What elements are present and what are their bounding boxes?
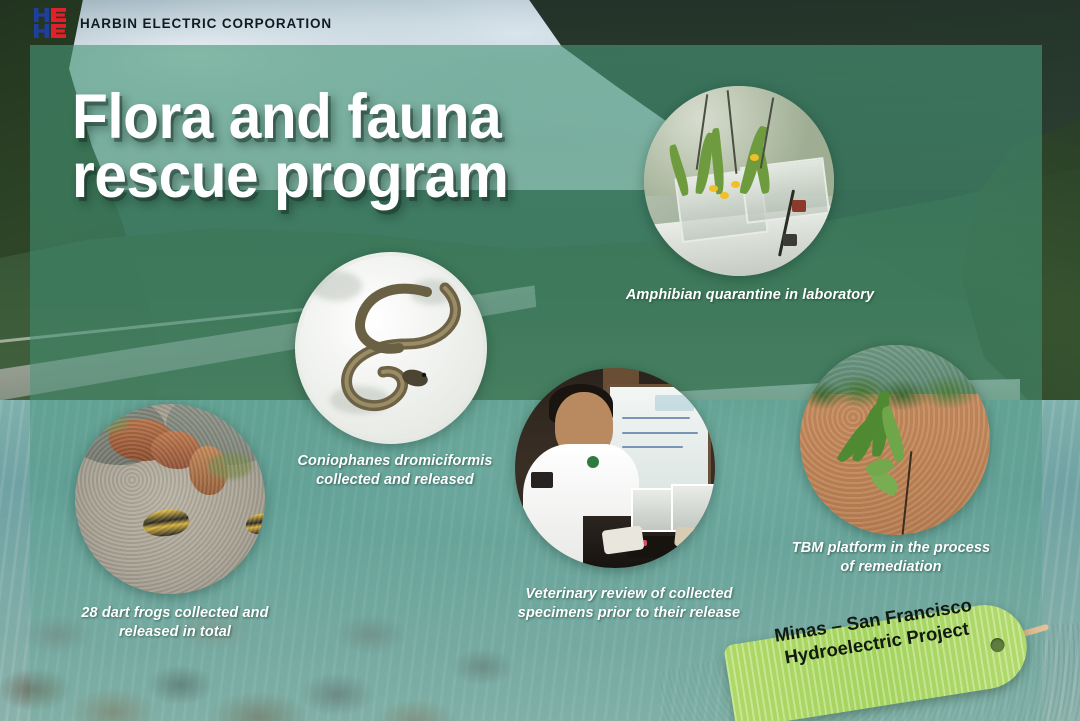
vet-logo-patch — [587, 456, 599, 468]
whiteboard-chart — [655, 395, 694, 411]
poster-slide: HARBIN ELECTRIC CORPORATION Flora and fa… — [0, 0, 1080, 721]
caption-dart-frog: 28 dart frogs collected and released in … — [52, 604, 298, 642]
lab-flower — [720, 192, 729, 199]
lab-flower — [709, 185, 718, 192]
caption-tbm-line-1: TBM platform in the process — [768, 539, 1014, 558]
lab-socket — [792, 200, 806, 212]
logo-block-top-left — [34, 8, 49, 22]
caption-frog-line-1: 28 dart frogs collected and — [52, 604, 298, 623]
whiteboard-text — [622, 432, 698, 434]
caption-snake-line-2: collected and released — [282, 471, 508, 490]
caption-tbm-line-2: of remediation — [768, 558, 1014, 577]
snake-body-icon — [295, 252, 487, 444]
caption-frog-line-2: released in total — [52, 623, 298, 642]
page-title-line-1: Flora and fauna — [72, 88, 508, 147]
whiteboard-text — [622, 417, 691, 419]
caption-vet-line-1: Veterinary review of collected — [496, 585, 762, 604]
vet-badge — [531, 472, 553, 488]
project-tag: Minas – San Francisco Hydroelectric Proj… — [718, 608, 1048, 718]
caption-amphibian-lab: Amphibian quarantine in laboratory — [600, 286, 900, 305]
photo-dart-frog — [75, 404, 265, 594]
photo-snake — [295, 252, 487, 444]
caption-snake: Coniophanes dromiciformis collected and … — [282, 452, 508, 490]
lab-leaf — [666, 144, 692, 197]
lab-flower — [731, 181, 740, 188]
caption-seedling: TBM platform in the process of remediati… — [768, 539, 1014, 577]
whiteboard-text — [622, 446, 683, 448]
header-bar: HARBIN ELECTRIC CORPORATION — [0, 0, 1080, 46]
logo-block-bottom-right — [51, 24, 66, 38]
lab-stem — [727, 90, 738, 173]
lab-plants — [644, 86, 834, 276]
page-title-line-2: rescue program — [72, 147, 508, 206]
vet-paper-towel — [674, 526, 712, 550]
lab-plug — [783, 234, 797, 246]
brand-name: HARBIN ELECTRIC CORPORATION — [80, 16, 332, 31]
photo-amphibian-lab — [644, 86, 834, 276]
photo-seedling — [800, 345, 990, 535]
caption-snake-line-1: Coniophanes dromiciformis — [282, 452, 508, 471]
page-title: Flora and fauna rescue program — [72, 88, 508, 205]
frog-gravel-texture — [75, 404, 265, 594]
vet-specimen-bin — [671, 484, 715, 532]
logo-block-top-right — [51, 8, 66, 22]
harbin-electric-logo-icon — [34, 8, 66, 38]
logo-block-bottom-left — [34, 24, 49, 38]
photo-veterinary — [515, 368, 715, 568]
